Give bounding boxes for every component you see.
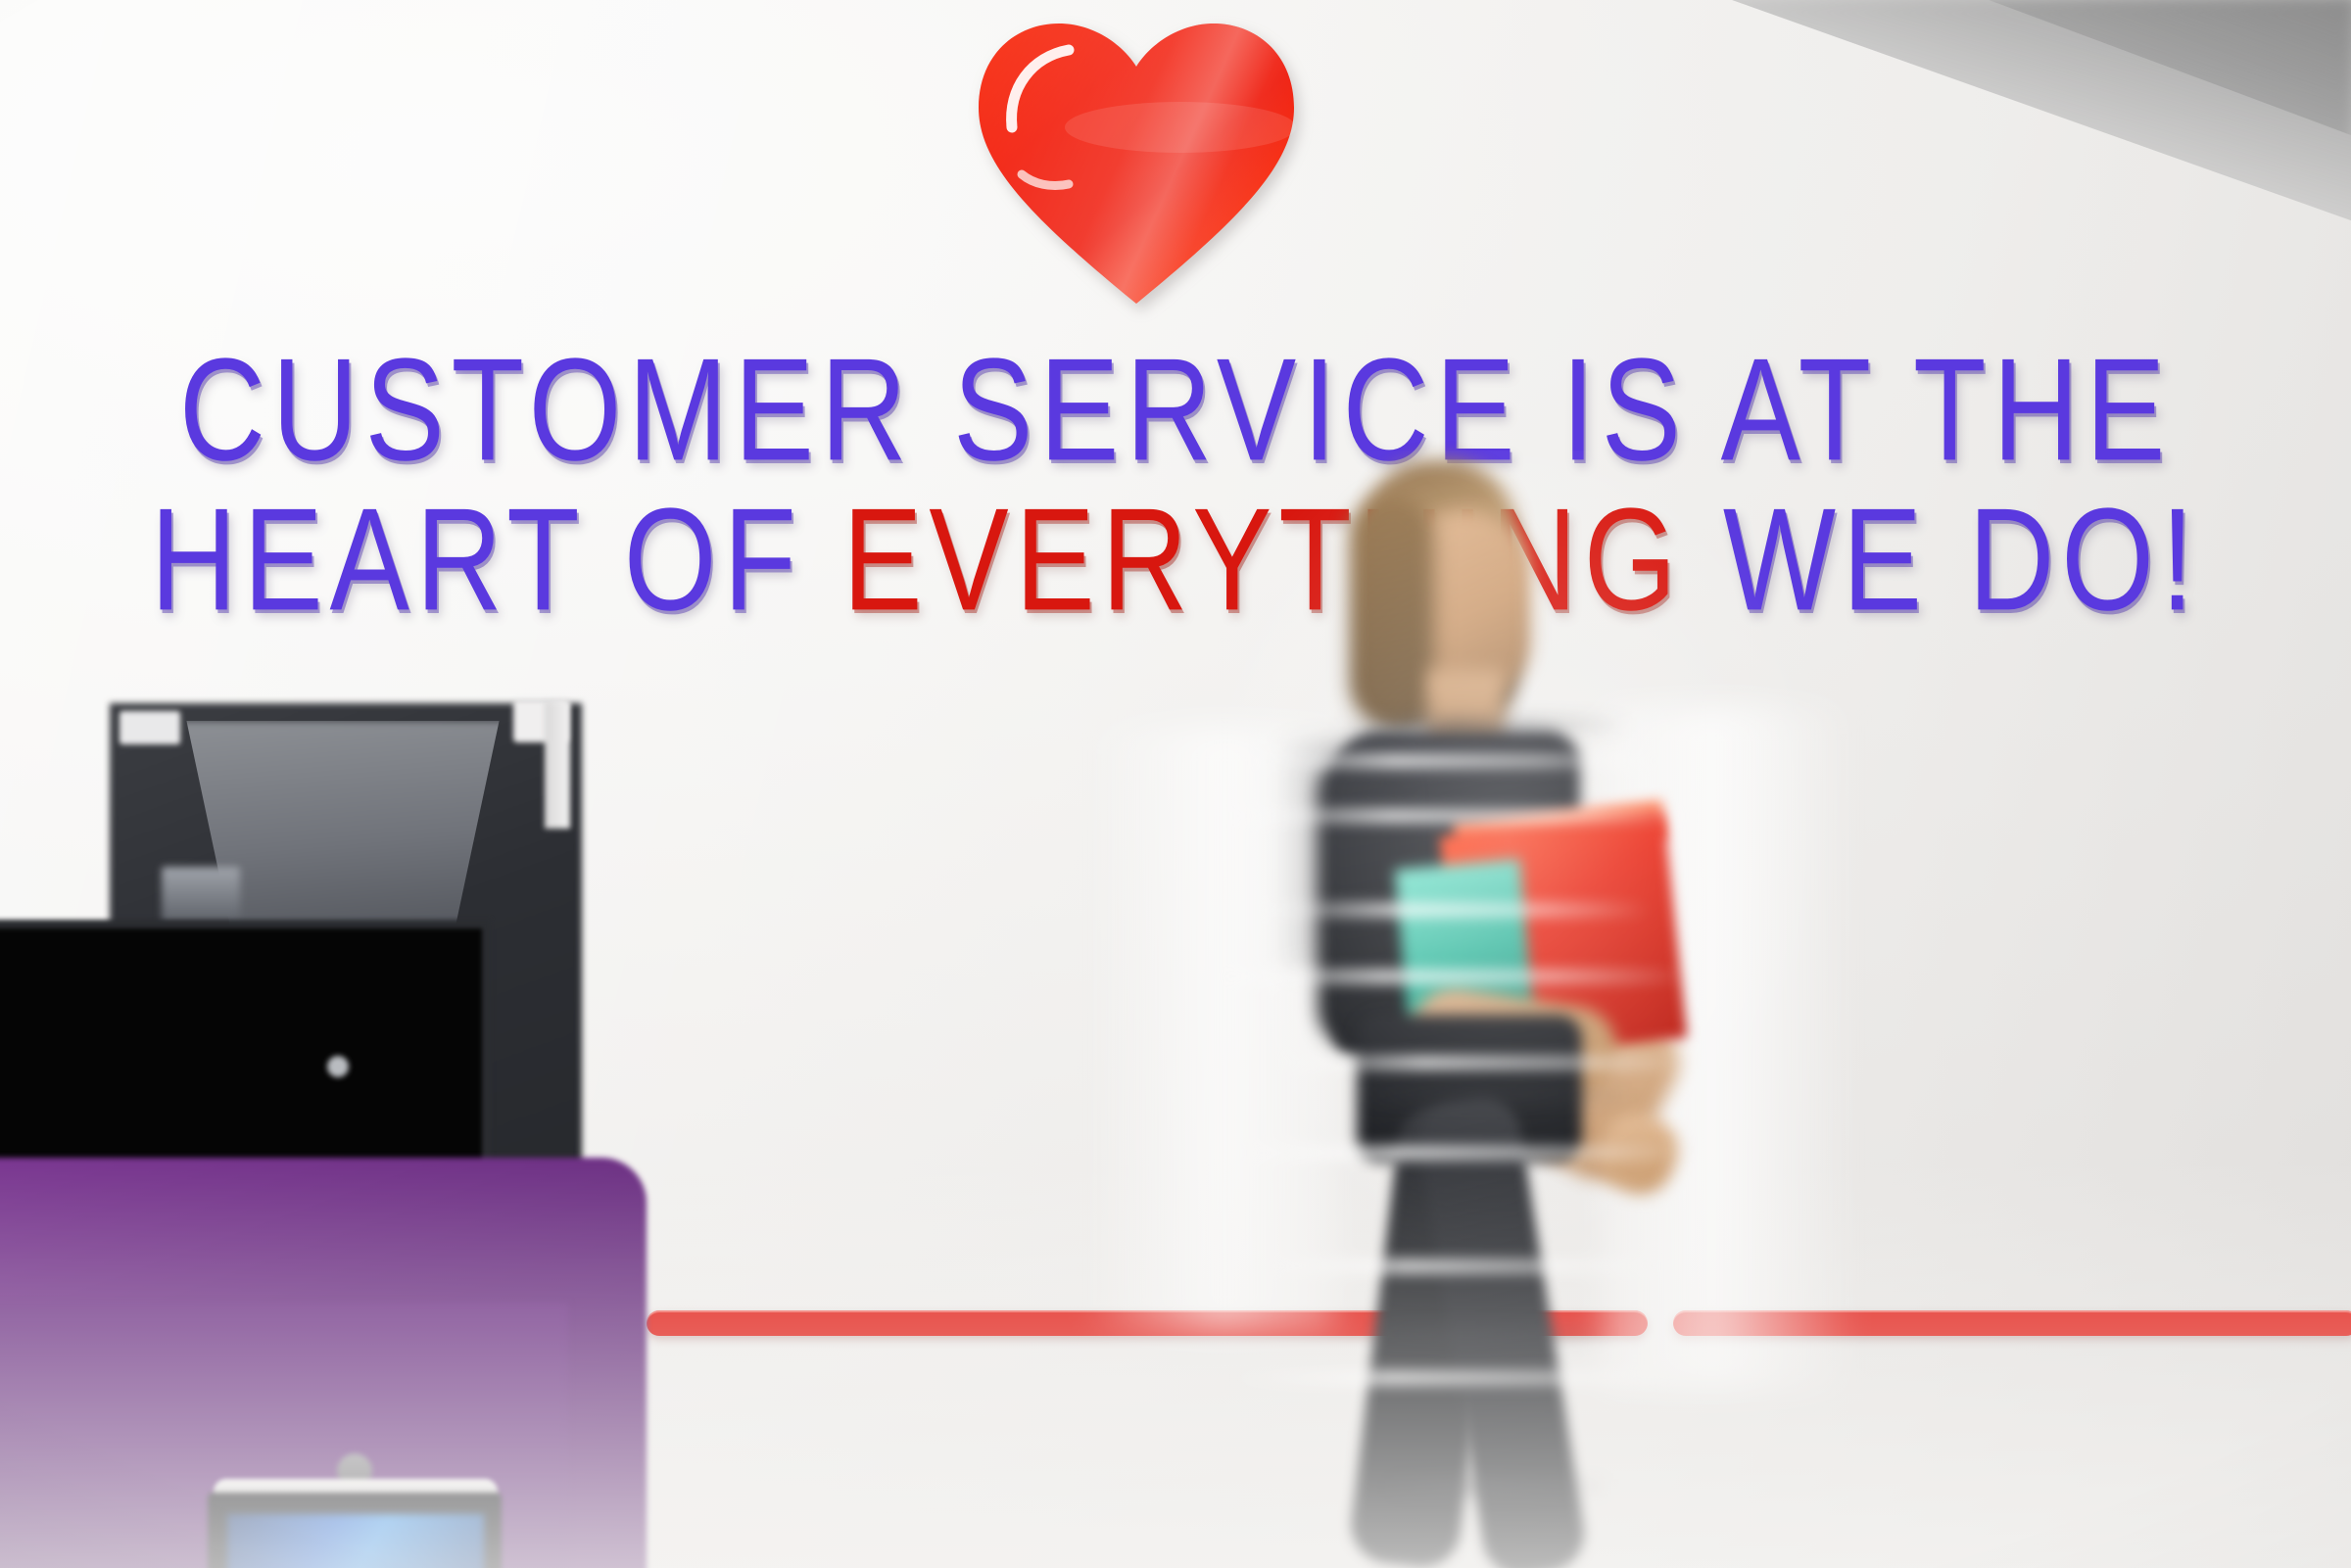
person-sleeve	[1318, 754, 1408, 1048]
display-mount-knob-top	[327, 1056, 349, 1077]
pod-shelf-object	[162, 867, 240, 924]
slogan-line-2: HEART OF EVERYTHING WE DO!	[0, 483, 2351, 638]
heart-icon	[975, 18, 1298, 304]
slogan-line-1: CUSTOMER SERVICE IS AT THE	[0, 333, 2351, 488]
pod-bracket-left	[120, 711, 180, 744]
slogan-line-2-part-1: HEART OF	[151, 478, 843, 641]
pod-edge-post	[545, 701, 570, 829]
wall-slogan: CUSTOMER SERVICE IS AT THE HEART OF EVER…	[0, 333, 2351, 610]
photo-scene: CUSTOMER SERVICE IS AT THE HEART OF EVER…	[0, 0, 2351, 1568]
floor-light-falloff	[0, 1157, 2351, 1568]
person-hair-front	[1350, 496, 1434, 727]
